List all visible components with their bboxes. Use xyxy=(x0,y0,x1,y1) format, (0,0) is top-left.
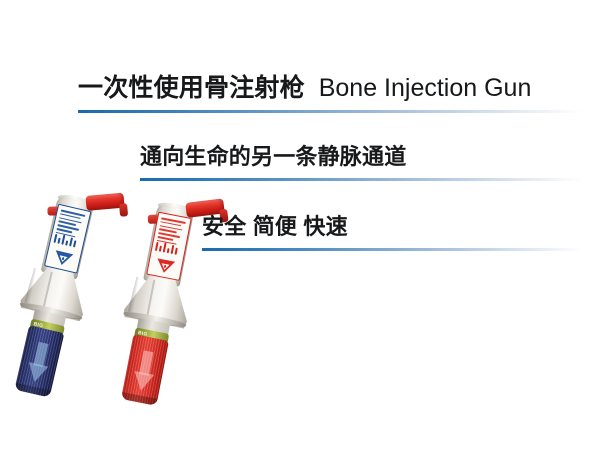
page-title-chinese: 一次性使用骨注射枪 xyxy=(78,74,305,102)
device-grip-base-blue xyxy=(14,325,64,397)
device-grip-base-red xyxy=(121,334,169,406)
page-title: 一次性使用骨注射枪 Bone Injection Gun xyxy=(78,72,583,104)
title-block: 一次性使用骨注射枪 Bone Injection Gun xyxy=(78,72,583,113)
title-underline-rule xyxy=(78,110,583,113)
features-text: 安全 简便 快速 xyxy=(202,212,583,242)
subtitle-block: 通向生命的另一条静脉通道 xyxy=(140,142,583,181)
features-underline-rule xyxy=(202,248,583,251)
product-bone-injection-gun-blue: BIG xyxy=(8,190,104,400)
features-block: 安全 简便 快速 xyxy=(202,212,583,251)
product-bone-injection-gun-red: BIG xyxy=(112,198,208,408)
page-title-latin: Bone Injection Gun xyxy=(319,74,532,102)
subtitle-text: 通向生命的另一条静脉通道 xyxy=(140,142,583,172)
subtitle-underline-rule xyxy=(140,178,583,181)
